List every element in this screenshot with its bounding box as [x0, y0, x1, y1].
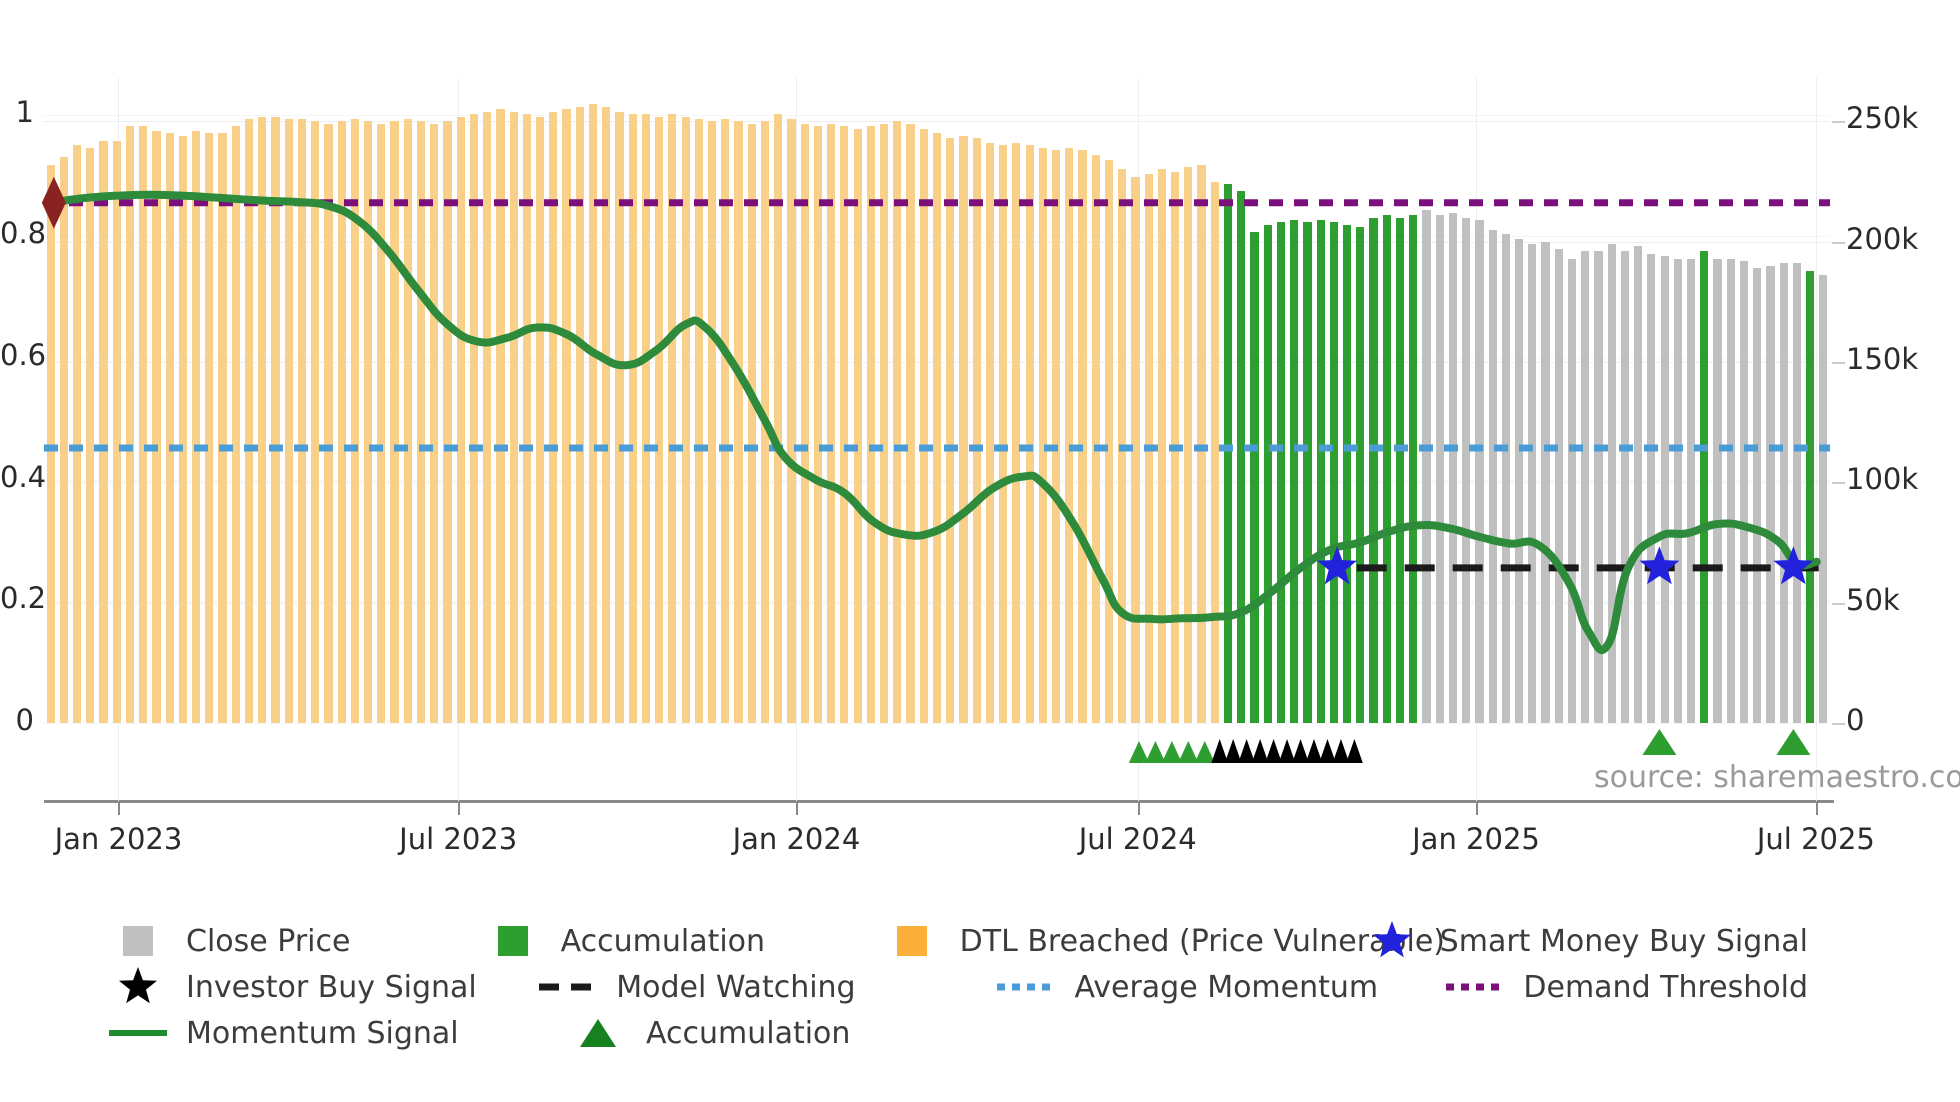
smart-money-buy-signal	[1640, 546, 1680, 584]
y-axis-right-tickmark	[1832, 482, 1845, 484]
x-axis-tick: Jul 2023	[338, 822, 578, 856]
legend-solid-line-icon	[108, 1016, 168, 1050]
x-axis-line	[44, 800, 1834, 803]
investor-buy-signal-marker	[1292, 739, 1309, 763]
accumulation-triangle-marker	[1145, 741, 1165, 763]
legend-item-label: Accumulation	[646, 1016, 850, 1051]
legend-row: Momentum SignalAccumulation	[108, 1010, 1808, 1056]
legend-item-accumulation-marker[interactable]: Accumulation	[568, 1016, 1058, 1051]
y-axis-left-tick: 0.4	[0, 460, 34, 494]
legend-item-label: Accumulation	[561, 924, 765, 959]
y-axis-right-tick: 0	[1846, 703, 1864, 737]
legend-item-demand-threshold[interactable]: Demand Threshold	[1445, 970, 1808, 1005]
legend-dotted-line-icon	[1445, 970, 1505, 1004]
legend-item-label: Average Momentum	[1074, 970, 1378, 1005]
y-axis-right-tick: 250k	[1846, 101, 1918, 135]
y-axis-left-tick: 0.6	[0, 338, 34, 372]
legend-dotted-line-icon	[996, 970, 1056, 1004]
legend-dot-glyph	[997, 982, 1055, 992]
accumulation-triangle-marker	[1195, 741, 1215, 763]
investor-buy-signal-marker	[1225, 739, 1242, 763]
y-axis-left-tick: 0.2	[0, 581, 34, 615]
legend-star-glyph	[115, 965, 161, 1009]
gridline-horizontal	[44, 723, 1830, 724]
x-axis-tick: Jan 2025	[1356, 822, 1596, 856]
x-axis-tickmark	[458, 803, 460, 815]
x-axis-tickmark	[1138, 803, 1140, 815]
y-axis-right-tickmark	[1832, 362, 1845, 364]
x-axis-tickmark	[796, 803, 798, 815]
legend-line-glyph	[109, 1030, 167, 1036]
y-axis-right-tick: 100k	[1846, 462, 1918, 496]
x-axis-tickmark	[1476, 803, 1478, 815]
legend-item-investor-buy-signal[interactable]: Investor Buy Signal	[108, 970, 538, 1005]
signal-marker-row	[44, 725, 1834, 800]
legend-row: Close PriceAccumulationDTL Breached (Pri…	[108, 918, 1808, 964]
legend-item-dtl-breached[interactable]: DTL Breached (Price Vulnerable)	[882, 924, 1362, 959]
legend-item-label: Smart Money Buy Signal	[1440, 924, 1808, 959]
y-axis-right-tick: 50k	[1846, 583, 1900, 617]
legend-triangle-icon	[568, 1016, 628, 1050]
investor-buy-signal-marker	[1333, 739, 1350, 763]
legend-item-close-price[interactable]: Close Price	[108, 924, 483, 959]
legend-square-icon	[882, 924, 942, 958]
y-axis-right-tickmark	[1832, 242, 1845, 244]
legend-dashed-line-icon	[538, 970, 598, 1004]
legend-item-momentum-signal[interactable]: Momentum Signal	[108, 1016, 568, 1051]
y-axis-right-tickmark	[1832, 603, 1845, 605]
legend-star-glyph	[1369, 919, 1415, 963]
legend-item-model-watching[interactable]: Model Watching	[538, 970, 996, 1005]
accumulation-triangle-marker	[1776, 729, 1810, 755]
chart-plot-area	[44, 78, 1830, 723]
legend-row: Investor Buy SignalModel WatchingAverage…	[108, 964, 1808, 1010]
legend-item-label: Demand Threshold	[1523, 970, 1808, 1005]
accumulation-triangle-marker	[1162, 741, 1182, 763]
legend-triangle-glyph	[576, 1015, 620, 1051]
legend-dot-glyph	[1446, 982, 1504, 992]
y-axis-right-tick: 200k	[1846, 222, 1918, 256]
x-axis-tick: Jan 2024	[676, 822, 916, 856]
legend-item-label: Momentum Signal	[186, 1016, 459, 1051]
legend-dash-glyph	[539, 982, 597, 992]
accumulation-triangle-marker	[1178, 741, 1198, 763]
y-axis-left-tick: 0.8	[0, 216, 34, 250]
investor-buy-signal-marker	[1252, 739, 1269, 763]
momentum-signal-line	[51, 195, 1817, 650]
investor-buy-signal-marker	[1306, 739, 1323, 763]
x-axis-tick: Jul 2024	[1018, 822, 1258, 856]
investor-buy-signal-marker	[1319, 739, 1336, 763]
accumulation-triangle-marker	[1129, 741, 1149, 763]
y-axis-left-tick: 0	[0, 703, 34, 737]
investor-buy-signal-marker	[1211, 739, 1228, 763]
x-axis-tickmark	[1816, 803, 1818, 815]
investor-buy-signal-marker	[1346, 739, 1363, 763]
y-axis-right-tick: 150k	[1846, 342, 1918, 376]
legend-star-icon	[1362, 924, 1422, 958]
chart-overlay	[44, 78, 1830, 723]
legend-square-glyph	[897, 926, 927, 956]
legend-item-label: Investor Buy Signal	[186, 970, 477, 1005]
investor-buy-signal-marker	[1238, 739, 1255, 763]
y-axis-left-tick: 1	[0, 95, 34, 129]
source-note: source: sharemaestro.com	[1594, 760, 1960, 795]
accumulation-triangle-marker	[1642, 729, 1676, 755]
legend-star-icon	[108, 970, 168, 1004]
legend-square-icon	[483, 924, 543, 958]
y-axis-right-tickmark	[1832, 121, 1845, 123]
x-axis-tickmark	[118, 803, 120, 815]
investor-buy-signal-marker	[1279, 739, 1296, 763]
legend-item-label: Close Price	[186, 924, 350, 959]
smart-money-buy-signal	[1773, 546, 1813, 584]
legend-square-icon	[108, 924, 168, 958]
legend-item-label: Model Watching	[616, 970, 855, 1005]
legend-square-glyph	[123, 926, 153, 956]
legend-item-accumulation-bar[interactable]: Accumulation	[483, 924, 882, 959]
investor-buy-signal-marker	[1265, 739, 1282, 763]
legend-square-glyph	[498, 926, 528, 956]
legend-item-smart-money-buy-signal[interactable]: Smart Money Buy Signal	[1362, 924, 1808, 959]
x-axis-tick: Jan 2023	[0, 822, 238, 856]
chart-legend: Close PriceAccumulationDTL Breached (Pri…	[108, 918, 1808, 1056]
legend-item-average-momentum[interactable]: Average Momentum	[996, 970, 1445, 1005]
x-axis-tick: Jul 2025	[1696, 822, 1936, 856]
